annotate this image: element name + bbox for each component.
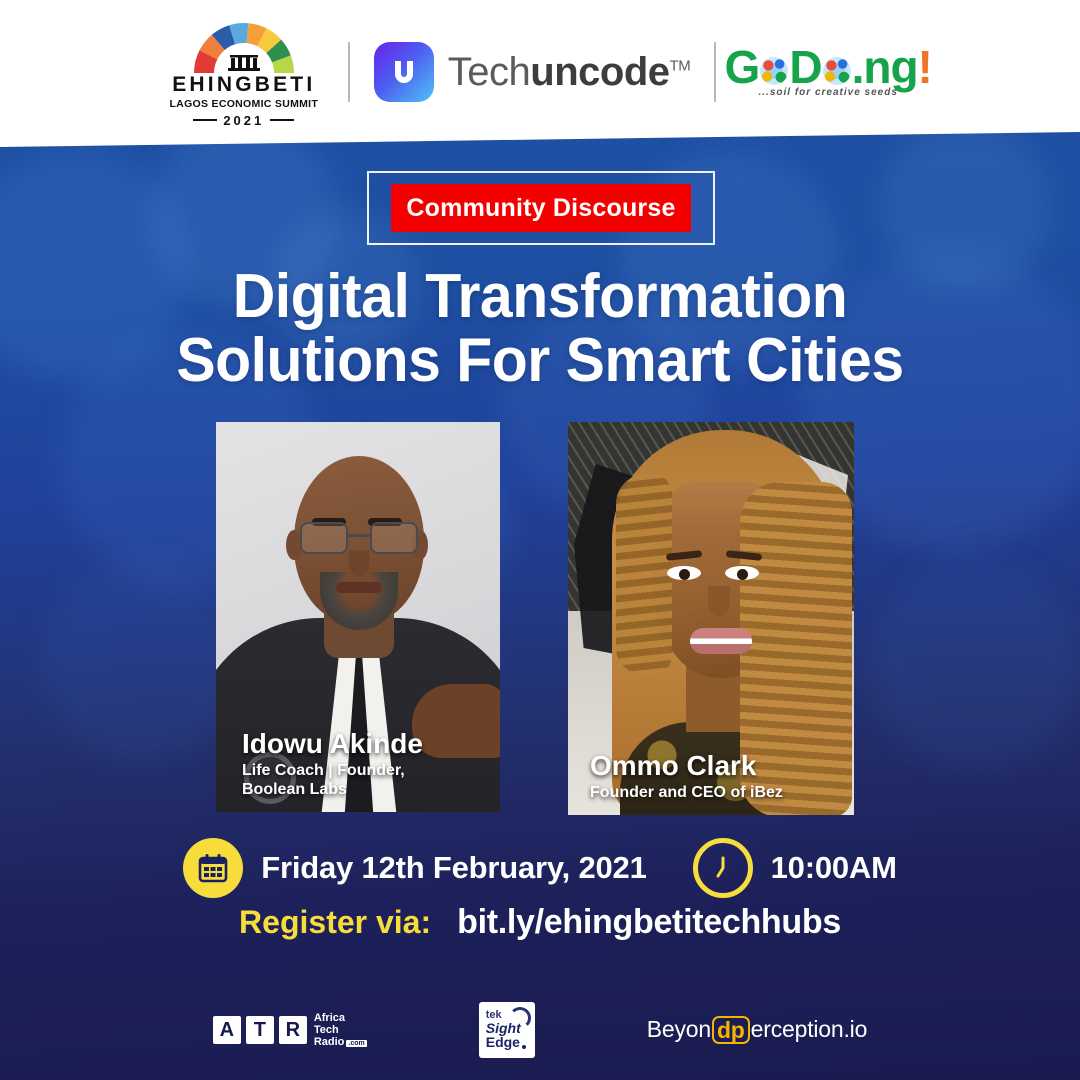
atr-letter-a: A (213, 1016, 241, 1044)
godo-wordmark: G D .ng ! (725, 46, 932, 90)
title-line-2: Solutions For Smart Cities (27, 329, 1053, 393)
event-date-group: Friday 12th February, 2021 (183, 838, 646, 898)
badge-label: Community Discourse (406, 194, 675, 223)
godo-globe-icon (823, 57, 851, 85)
godo-exclamation: ! (918, 46, 932, 90)
speaker-role: Founder and CEO of iBez (590, 784, 840, 803)
atr-dotcom: .com (346, 1040, 366, 1047)
godo-tagline: ...soil for creative seeds (759, 87, 898, 98)
techuncode-wordmark: TechuncodeTM (448, 50, 690, 95)
rule-left (193, 119, 217, 121)
event-datetime-row: Friday 12th February, 2021 10:00AM (0, 834, 1080, 902)
atr-wordmark: Africa Tech Radio.com (314, 1012, 367, 1049)
speaker-card: Idowu Akinde Life Coach | Founder, Boole… (216, 422, 500, 812)
event-time-group: 10:00AM (693, 838, 897, 898)
ehingbeti-year: 2021 (223, 113, 264, 128)
sponsor-header-bar: EHINGBETI LAGOS ECONOMIC SUMMIT 2021 Tec… (0, 0, 1080, 152)
techuncode-text-light: Tech (448, 50, 531, 94)
speaker-nameplate: Idowu Akinde Life Coach | Founder, Boole… (216, 729, 500, 812)
speaker-role-line-2: Boolean Labs (242, 781, 486, 800)
speaker-role: Life Coach | Founder, Boolean Labs (242, 762, 486, 800)
register-link[interactable]: bit.ly/ehingbetitechhubs (457, 903, 841, 942)
ehingbeti-subtitle: LAGOS ECONOMIC SUMMIT (169, 98, 318, 110)
atr-letter-r: R (279, 1016, 307, 1044)
atr-letter-boxes: A T R (213, 1016, 307, 1044)
event-time: 10:00AM (771, 850, 897, 886)
bdp-highlight: dp (712, 1016, 750, 1044)
techuncode-text-bold: uncode (530, 50, 669, 94)
techuncode-trademark: TM (670, 57, 691, 74)
clock-icon (693, 838, 753, 898)
header-divider (714, 42, 716, 102)
event-flyer: EHINGBETI LAGOS ECONOMIC SUMMIT 2021 Tec… (0, 0, 1080, 1080)
speakers-row: Idowu Akinde Life Coach | Founder, Boole… (0, 422, 1080, 822)
badge-fill: Community Discourse (391, 184, 691, 232)
atr-letter-t: T (246, 1016, 274, 1044)
godo-logo: G D .ng ! ...soil for creative seeds (740, 46, 916, 99)
ehingbeti-year-row: 2021 (193, 113, 294, 128)
community-discourse-badge: Community Discourse (367, 171, 715, 245)
atr-word-africa: Africa (314, 1012, 367, 1024)
techuncode-logo: TechuncodeTM (374, 42, 690, 102)
rule-right (270, 119, 294, 121)
speaker-role-line-1: Founder and CEO of iBez (590, 784, 840, 803)
teksightedge-logo: tek Sight Edge (479, 1002, 535, 1058)
africa-tech-radio-logo: A T R Africa Tech Radio.com (213, 1012, 367, 1049)
registration-row: Register via: bit.ly/ehingbetitechhubs (0, 903, 1080, 942)
event-date: Friday 12th February, 2021 (261, 850, 646, 886)
speaker-name: Ommo Clark (590, 751, 840, 780)
speaker-name: Idowu Akinde (242, 729, 486, 758)
beyondperception-logo: Beyondperception.io (647, 1016, 867, 1044)
event-title: Digital Transformation Solutions For Sma… (27, 265, 1053, 393)
speaker-role-line-1: Life Coach | Founder, (242, 762, 486, 781)
partner-footer: A T R Africa Tech Radio.com tek Sight Ed… (0, 995, 1080, 1065)
godo-letter-d: D (789, 46, 821, 90)
atr-word-tech: Tech (314, 1024, 367, 1036)
speaker-nameplate: Ommo Clark Founder and CEO of iBez (568, 751, 854, 815)
dot-icon (522, 1045, 526, 1049)
bdp-prefix: Beyon (647, 1016, 711, 1043)
tse-line-3: Edge (486, 1035, 520, 1050)
speaker-card: Ommo Clark Founder and CEO of iBez (568, 422, 854, 815)
register-label: Register via: (239, 904, 431, 941)
godo-tld: .ng (852, 46, 918, 90)
godo-globe-icon (760, 57, 788, 85)
ehingbeti-title: EHINGBETI (172, 74, 315, 95)
techuncode-u-icon (374, 42, 434, 102)
bdp-suffix: erception.io (751, 1016, 868, 1043)
calendar-icon (183, 838, 243, 898)
title-line-1: Digital Transformation (27, 265, 1053, 329)
ehingbeti-fan-icon (188, 17, 300, 73)
atr-word-radio: Radio (314, 1036, 345, 1048)
godo-letter-g: G (725, 46, 760, 90)
ehingbeti-logo: EHINGBETI LAGOS ECONOMIC SUMMIT 2021 (164, 17, 324, 128)
header-divider (348, 42, 350, 102)
arc-icon (509, 1007, 531, 1029)
